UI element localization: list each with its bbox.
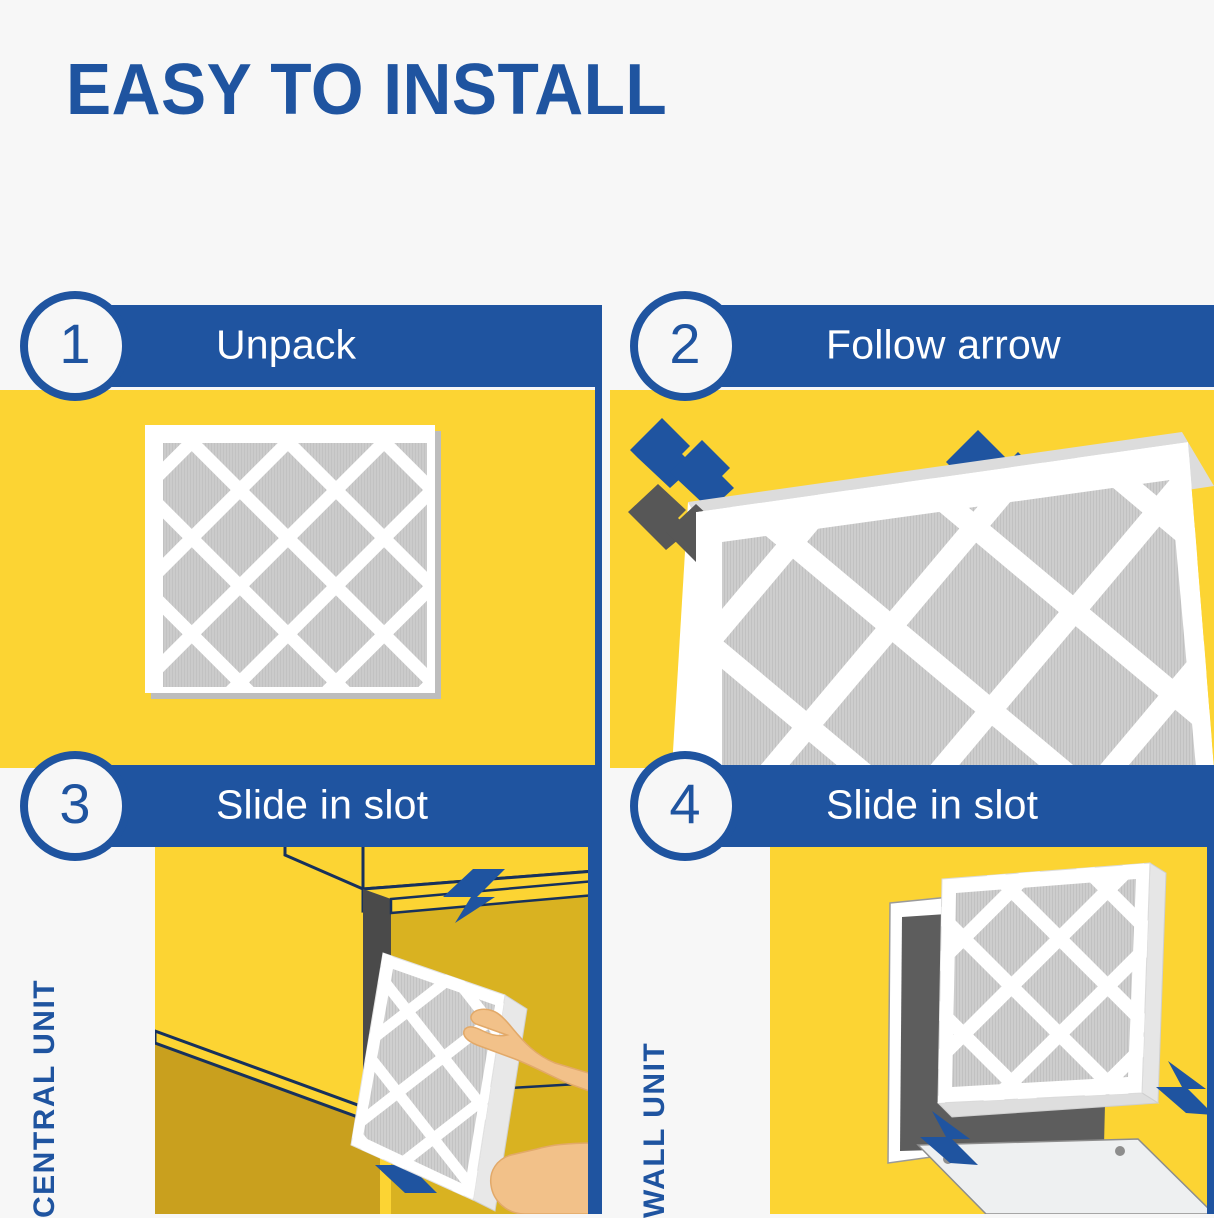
step-3-header-bar: Slide in slot	[60, 765, 595, 847]
step-1-label: Unpack	[216, 322, 356, 369]
step-4-label: Slide in slot	[826, 782, 1038, 829]
step-4-illustration	[770, 845, 1214, 1214]
panel-divider-bottom	[595, 765, 602, 1214]
panel-divider-top	[595, 305, 602, 768]
step-3-side-label: CENTRAL UNIT	[28, 979, 62, 1218]
step-4-header-bar: Slide in slot	[670, 765, 1214, 847]
panel-4-right-edge	[1207, 845, 1214, 1214]
step-1-header-bar: Unpack	[60, 305, 595, 387]
step-2-label: Follow arrow	[826, 322, 1061, 369]
easy-to-install-infographic: EASY TO INSTALL	[0, 0, 1214, 1214]
step-2-number-badge: 2	[630, 291, 740, 401]
wall-unit-svg	[770, 845, 1214, 1214]
step-3-label: Slide in slot	[216, 782, 428, 829]
tilted-filter-svg	[610, 390, 1214, 768]
step-4-number: 4	[638, 759, 732, 853]
step-3-illustration	[155, 845, 595, 1214]
step-4-side-label: WALL UNIT	[638, 1042, 672, 1218]
panel-3-right-edge	[588, 845, 595, 1214]
central-unit-svg	[155, 845, 595, 1214]
step-4-number-badge: 4	[630, 751, 740, 861]
step-3-number-badge: 3	[20, 751, 130, 861]
step-1-number: 1	[28, 299, 122, 393]
filter-front-view-svg	[0, 390, 595, 768]
page-title: EASY TO INSTALL	[66, 54, 667, 126]
cover-screw-right	[1115, 1146, 1125, 1156]
step-1-illustration	[0, 390, 595, 768]
step-2-number: 2	[638, 299, 732, 393]
step-1-number-badge: 1	[20, 291, 130, 401]
step-2-illustration	[610, 390, 1214, 768]
step-2-header-bar: Follow arrow	[670, 305, 1214, 387]
step-3-number: 3	[28, 759, 122, 853]
